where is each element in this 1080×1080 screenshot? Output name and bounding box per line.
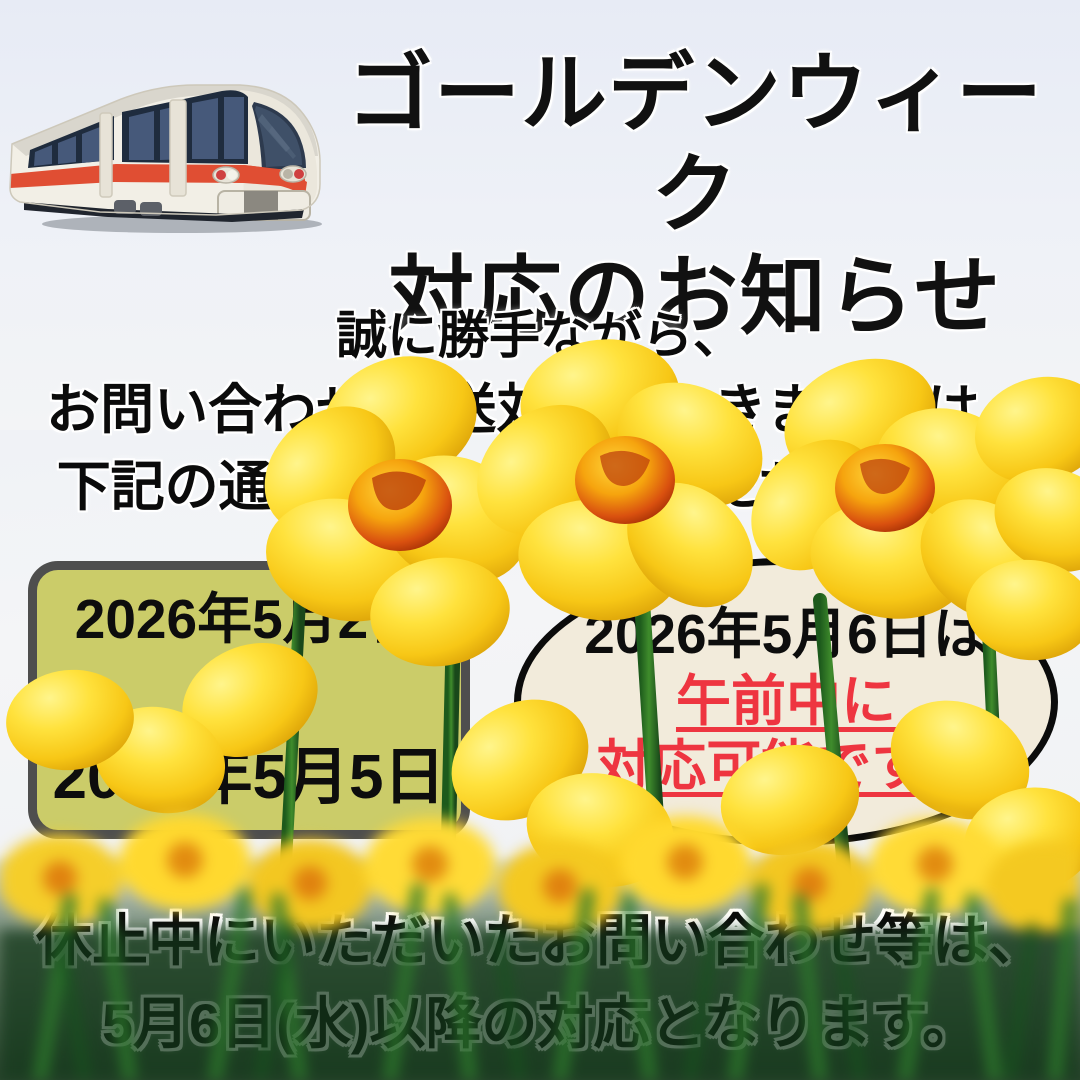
closure-start-date: 2026年5月2日 — [75, 592, 424, 647]
lead-line-2: お問い合わせ・発送対応につきましては、 — [0, 372, 1080, 449]
footer-line-1: 休止中にいただいたお問い合わせ等は、 — [0, 900, 1080, 983]
lead-line-3: 下記の通り休止とさせていただきます。 — [0, 449, 1080, 526]
title-line-1: ゴールデンウィーク — [330, 44, 1060, 247]
notice-canvas: /*placeholder*/ — [0, 0, 1080, 1080]
partial-day-highlight-1: 午前中に — [676, 669, 896, 734]
partial-day-highlight-2: 対応可能です。 — [596, 734, 976, 799]
partial-day-date: 2026年5月6日は — [584, 605, 988, 663]
footer-note: 休止中にいただいたお問い合わせ等は、 5月6日(水)以降の対応となります。 — [0, 900, 1080, 1066]
partial-day-box: 2026年5月6日は 午前中に 対応可能です。 — [514, 558, 1058, 846]
train-illustration — [4, 52, 334, 238]
closure-end-date: 2026年5月5日 — [53, 747, 446, 809]
lead-line-1: 誠に勝手ながら、 — [0, 300, 1080, 372]
closure-period-box: 2026年5月2日 | 2026年5月5日 — [28, 561, 470, 839]
lead-paragraph: 誠に勝手ながら、 お問い合わせ・発送対応につきましては、 下記の通り休止とさせて… — [0, 300, 1080, 526]
footer-line-2: 5月6日(水)以降の対応となります。 — [0, 983, 1080, 1066]
date-range-separator — [246, 667, 252, 729]
